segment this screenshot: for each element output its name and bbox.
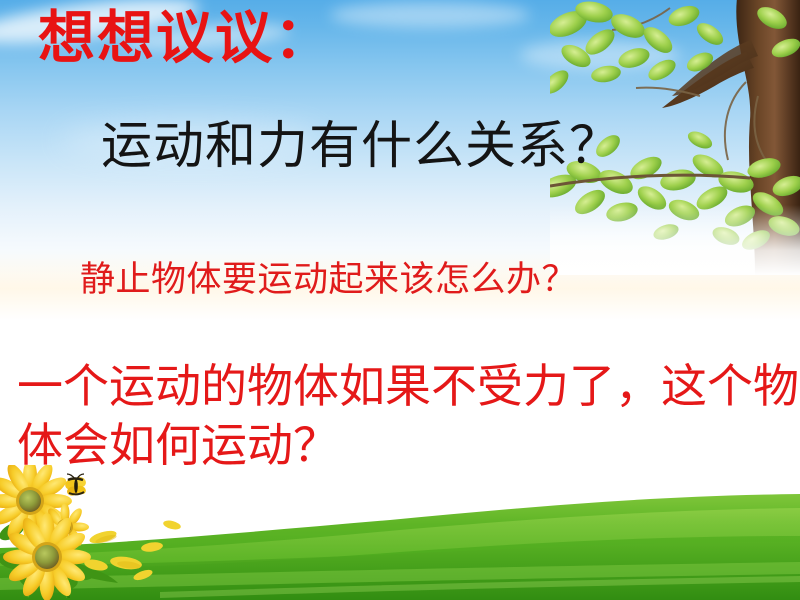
slide-text-layer: 想想议议： 运动和力有什么关系？ 静止物体要运动起来该怎么办？ 一个运动的物体如…: [0, 0, 800, 600]
sub-question-one-text: 静止物体要运动起来该怎么办？: [80, 262, 577, 300]
sub-question-two-text: 一个运动的物体如果不受力了，这个物体会如何运动？: [17, 357, 800, 475]
presentation-slide: 想想议议： 运动和力有什么关系？ 静止物体要运动起来该怎么办？ 一个运动的物体如…: [0, 0, 800, 600]
slide-title: 想想议议：: [38, 8, 333, 70]
main-question-text: 运动和力有什么关系？: [101, 119, 621, 174]
